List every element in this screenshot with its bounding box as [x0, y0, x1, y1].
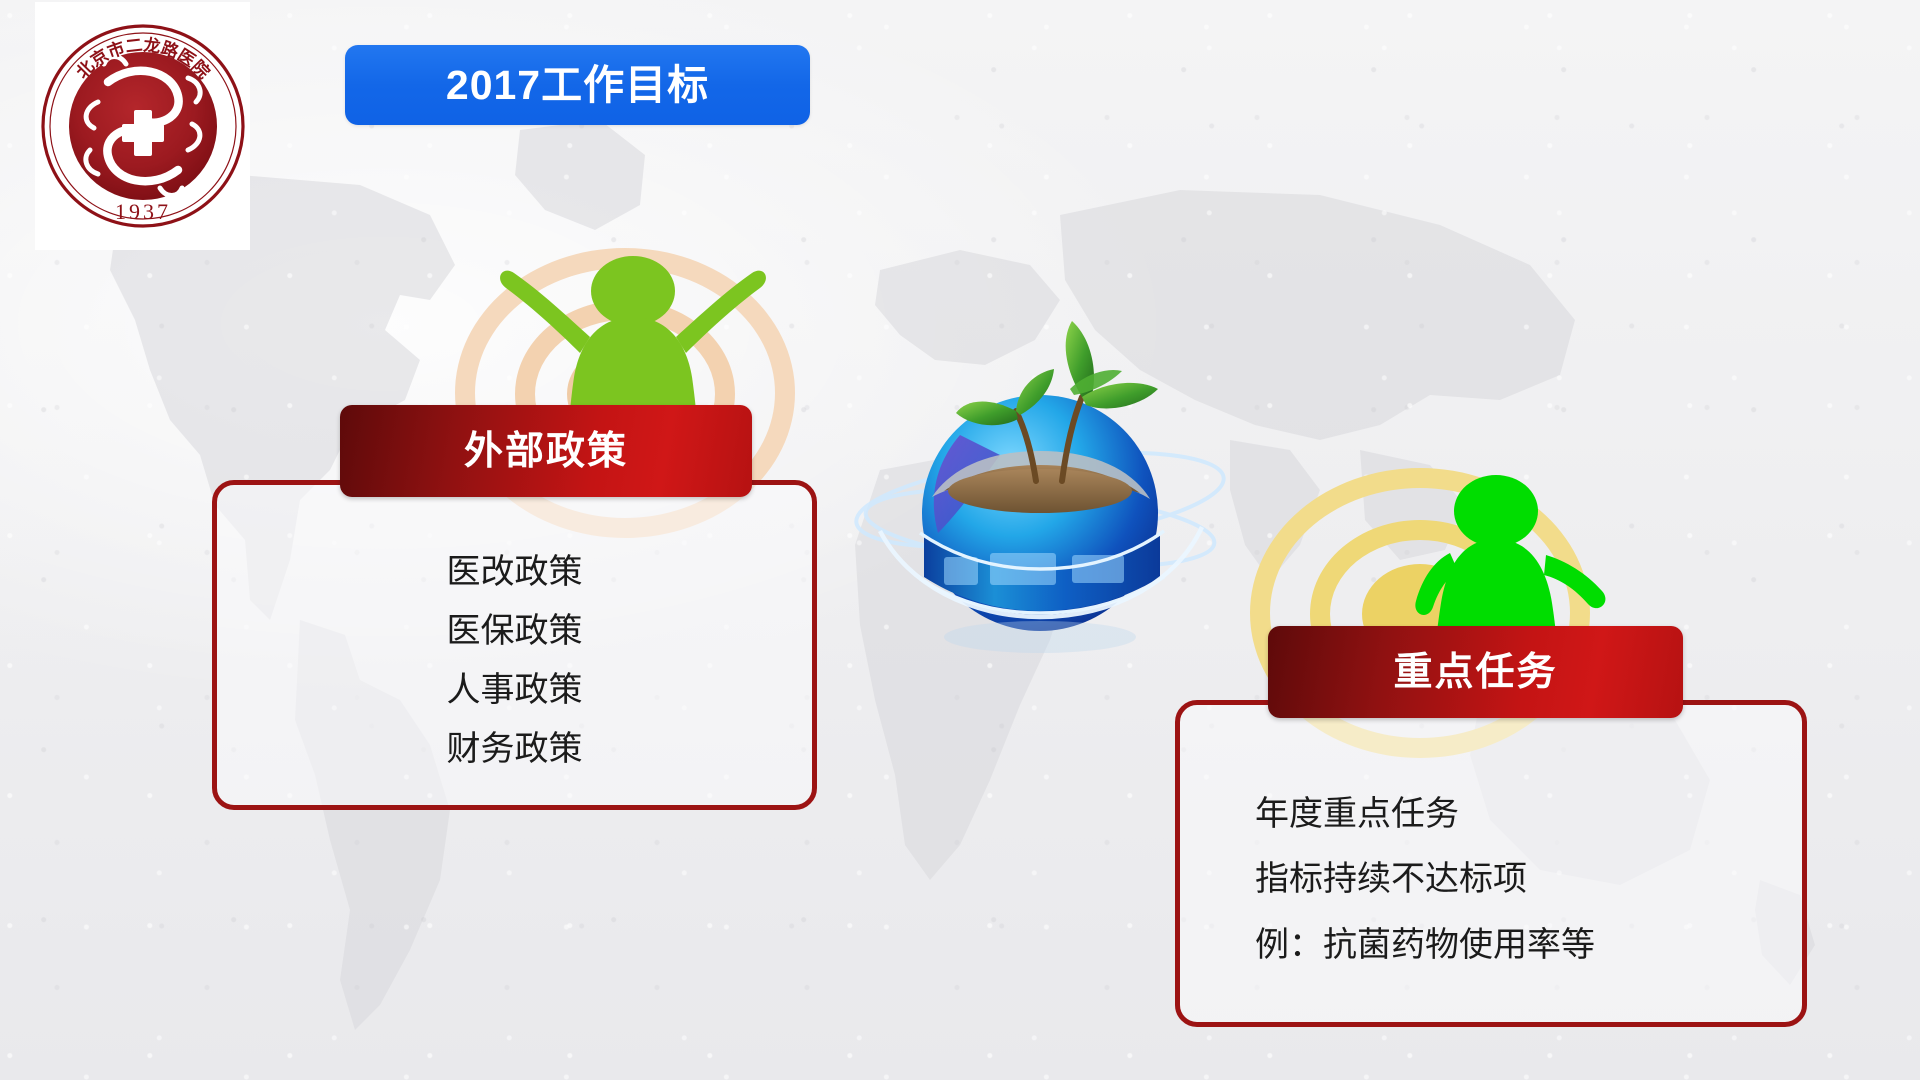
list-item: 财务政策 [447, 730, 583, 769]
list-item: 医改政策 [447, 553, 583, 592]
page-title: 2017工作目标 [446, 65, 709, 106]
external-policy-heading-label: 外部政策 [464, 432, 628, 471]
list-item: 医保政策 [447, 612, 583, 651]
list-item: 年度重点任务 [1255, 795, 1459, 834]
blue-globe-with-sprout-image [840, 285, 1240, 665]
hospital-logo: 北京市二龙路医院 1937 [35, 2, 250, 250]
list-item: 指标持续不达标项 [1255, 860, 1527, 899]
external-policy-items: 医改政策 医保政策 人事政策 财务政策 [212, 512, 817, 810]
list-item: 例：抗菌药物使用率等 [1255, 926, 1595, 965]
key-tasks-heading: 重点任务 [1268, 626, 1683, 718]
list-item: 人事政策 [447, 671, 583, 710]
key-tasks-items: 年度重点任务 指标持续不达标项 例：抗菌药物使用率等 [1175, 740, 1807, 1020]
slide-title-banner: 2017工作目标 [345, 45, 810, 125]
logo-year: 1937 [115, 199, 171, 224]
external-policy-heading: 外部政策 [340, 405, 752, 497]
key-tasks-heading-label: 重点任务 [1393, 653, 1557, 692]
slide-canvas: 北京市二龙路医院 1937 2017工作目标 [0, 0, 1920, 1080]
